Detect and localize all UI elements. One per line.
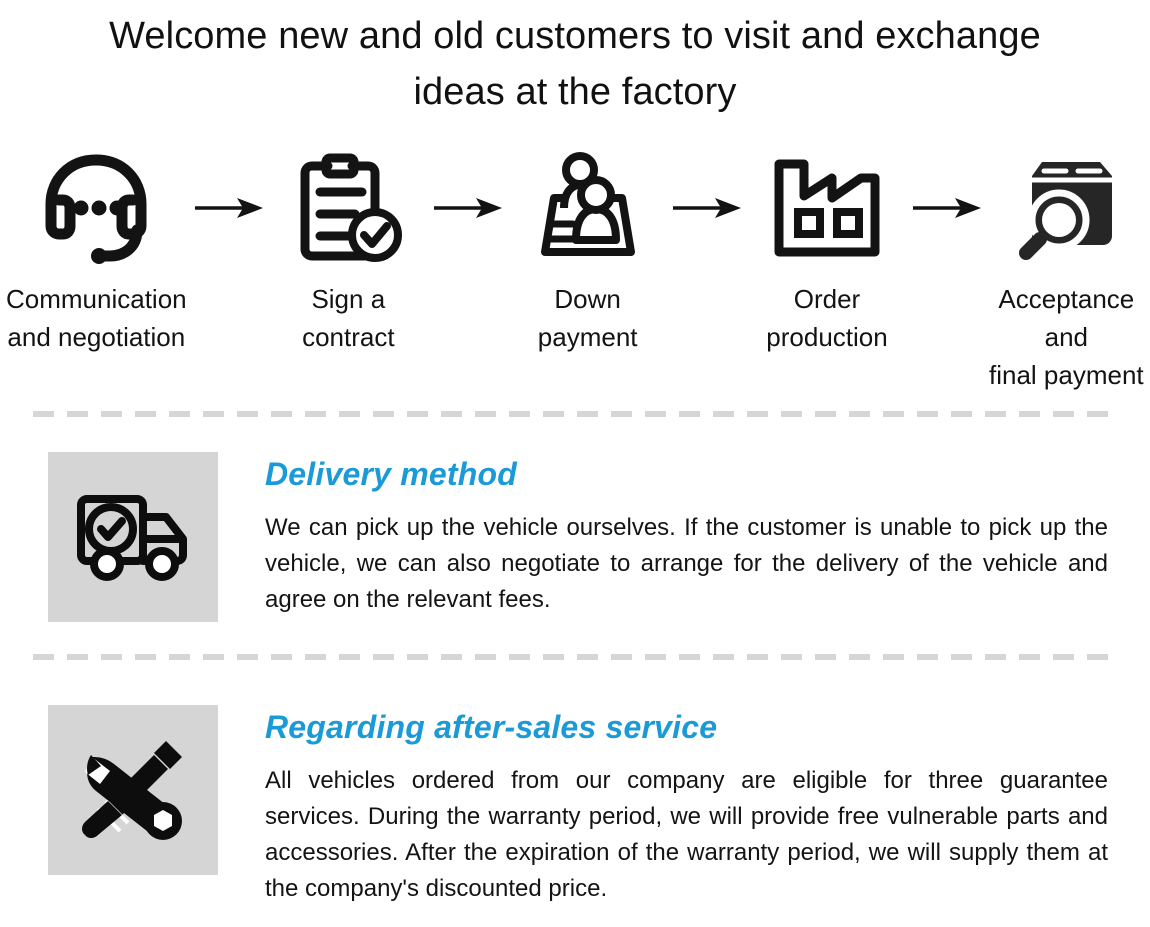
flow-step-label: Sign a contract <box>302 280 395 356</box>
section-text: All vehicles ordered from our company ar… <box>265 763 1108 907</box>
flow-arrow-2 <box>426 148 510 268</box>
flow-arrow-3 <box>665 148 749 268</box>
clipboard-check-icon <box>283 148 413 268</box>
delivery-truck-icon <box>48 452 218 622</box>
people-counter-icon <box>523 148 653 268</box>
section-heading: Delivery method <box>265 454 1108 494</box>
flow-step-label: Acceptance and final payment <box>989 280 1144 394</box>
page-title-line-1: Welcome new and old customers to visit a… <box>0 8 1150 64</box>
section-body: Delivery method We can pick up the vehic… <box>265 452 1108 622</box>
process-flow: Communication and negotiation <box>0 148 1150 373</box>
factory-icon <box>762 148 892 268</box>
flow-step-sign-contract: Sign a contract <box>271 148 426 356</box>
box-magnifier-icon <box>1001 148 1131 268</box>
flow-step-order-production: Order production <box>749 148 904 356</box>
wrench-screwdriver-icon <box>48 705 218 875</box>
page-title: Welcome new and old customers to visit a… <box>0 8 1150 120</box>
flow-step-label: Down payment <box>538 280 638 356</box>
flow-arrow-1 <box>187 148 271 268</box>
divider-bottom <box>33 654 1111 660</box>
flow-arrow-4 <box>905 148 989 268</box>
flow-step-label: Communication and negotiation <box>6 280 187 356</box>
page-title-line-2: ideas at the factory <box>0 64 1150 120</box>
section-text: We can pick up the vehicle ourselves. If… <box>265 510 1108 618</box>
section-body: Regarding after-sales service All vehicl… <box>265 705 1108 907</box>
infographic-page: Welcome new and old customers to visit a… <box>0 0 1150 927</box>
section-after-sales-service: Regarding after-sales service All vehicl… <box>48 705 1108 907</box>
flow-step-communication: Communication and negotiation <box>6 148 187 356</box>
headset-icon <box>31 148 161 268</box>
section-heading: Regarding after-sales service <box>265 707 1108 747</box>
divider-top <box>33 411 1111 417</box>
flow-step-label: Order production <box>766 280 887 356</box>
section-delivery-method: Delivery method We can pick up the vehic… <box>48 452 1108 622</box>
flow-step-down-payment: Down payment <box>510 148 665 356</box>
flow-step-acceptance: Acceptance and final payment <box>989 148 1144 394</box>
